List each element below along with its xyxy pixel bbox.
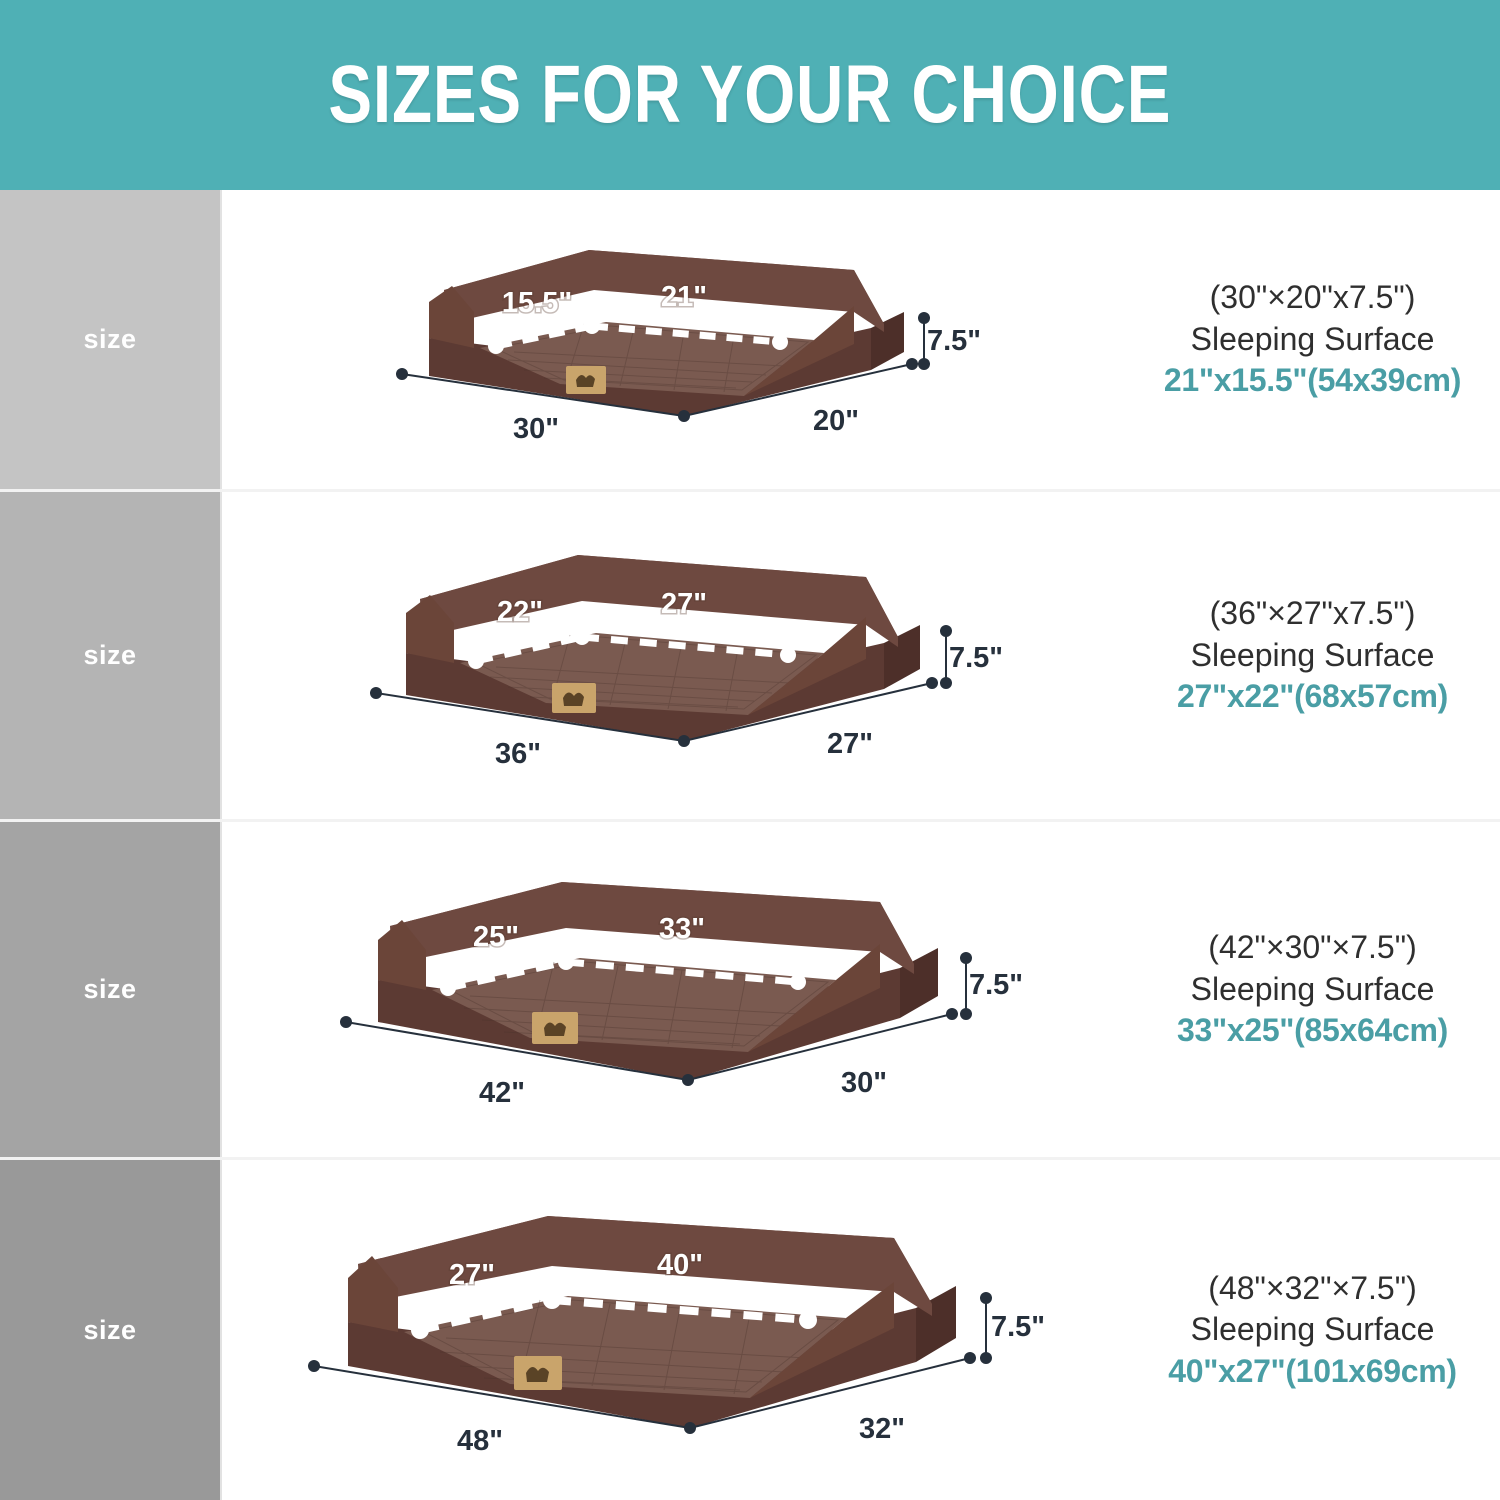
overall-dimensions: (30"×20"x7.5") xyxy=(1210,277,1416,319)
inner-side-label: 15.5" xyxy=(501,287,571,319)
outer-length-label: 30" xyxy=(512,413,558,445)
size-label: size xyxy=(83,324,136,355)
size-label: size xyxy=(83,640,136,671)
size-text-cell-3: (42"×30"×7.5") Sleeping Surface 33"x25"(… xyxy=(1125,822,1500,1157)
bed-illustration-cell-4: 27" 40" 48" 32" xyxy=(222,1160,1125,1500)
inner-front-label: 33" xyxy=(658,913,704,945)
sleeping-surface-value: 33"x25"(85x64cm) xyxy=(1177,1010,1448,1052)
inner-side-label: 25" xyxy=(472,921,518,953)
overall-dimensions: (36"×27"x7.5") xyxy=(1210,593,1416,635)
outer-depth-label: 30" xyxy=(840,1067,886,1099)
table-row: size xyxy=(0,1160,1500,1500)
size-text-cell-4: (48"×32"×7.5") Sleeping Surface 40"x27"(… xyxy=(1125,1160,1500,1500)
outer-height-label: 7.5" xyxy=(926,325,980,357)
page-title: SIZES FOR YOUR CHOICE xyxy=(328,48,1171,142)
size-chart-table: size xyxy=(0,190,1500,1500)
inner-side-label: 22" xyxy=(496,596,542,628)
outer-depth-label: 20" xyxy=(812,405,858,437)
outer-length-label: 42" xyxy=(478,1077,524,1109)
dog-bed-diagram-1: 15.5" 21" 30" xyxy=(384,220,964,460)
overall-dimensions: (48"×32"×7.5") xyxy=(1208,1268,1416,1310)
outer-height-label: 7.5" xyxy=(990,1311,1044,1343)
sleeping-surface-caption: Sleeping Surface xyxy=(1191,319,1435,361)
outer-length-label: 48" xyxy=(456,1425,502,1457)
inner-front-label: 21" xyxy=(660,281,706,313)
sleeping-surface-value: 40"x27"(101x69cm) xyxy=(1168,1351,1457,1393)
inner-front-label: 27" xyxy=(660,588,706,620)
table-row: size xyxy=(0,190,1500,492)
bed-illustration-cell-1: 15.5" 21" 30" xyxy=(222,190,1125,489)
inner-side-label: 27" xyxy=(448,1259,494,1291)
sleeping-surface-caption: Sleeping Surface xyxy=(1191,1309,1435,1351)
outer-height-label: 7.5" xyxy=(968,969,1022,1001)
size-swatch-cell-1: size xyxy=(0,190,222,489)
size-swatch-cell-2: size xyxy=(0,492,222,819)
size-text-cell-1: (30"×20"x7.5") Sleeping Surface 21"x15.5… xyxy=(1125,190,1500,489)
bed-illustration-cell-2: 22" 27" 36" 27" xyxy=(222,492,1125,819)
outer-depth-label: 32" xyxy=(858,1413,904,1445)
page-header-banner: SIZES FOR YOUR CHOICE xyxy=(0,0,1500,190)
dog-bed-diagram-4: 27" 40" 48" 32" xyxy=(294,1190,1054,1470)
table-row: size xyxy=(0,492,1500,822)
size-text-cell-2: (36"×27"x7.5") Sleeping Surface 27"x22"(… xyxy=(1125,492,1500,819)
size-label: size xyxy=(83,1315,136,1346)
inner-front-label: 40" xyxy=(656,1249,702,1281)
dog-bed-diagram-2: 22" 27" 36" 27" xyxy=(354,525,994,787)
table-row: size xyxy=(0,822,1500,1160)
sleeping-surface-caption: Sleeping Surface xyxy=(1191,635,1435,677)
bed-illustration-cell-3: 25" 33" 42" 30" xyxy=(222,822,1125,1157)
outer-depth-label: 27" xyxy=(826,728,872,760)
outer-height-label: 7.5" xyxy=(948,642,1002,674)
size-swatch-cell-3: size xyxy=(0,822,222,1157)
size-label: size xyxy=(83,974,136,1005)
sleeping-surface-value: 27"x22"(68x57cm) xyxy=(1177,676,1448,718)
outer-length-label: 36" xyxy=(494,738,540,770)
dog-bed-diagram-3: 25" 33" 42" 30" xyxy=(324,856,1024,1124)
overall-dimensions: (42"×30"×7.5") xyxy=(1208,927,1416,969)
sleeping-surface-value: 21"x15.5"(54x39cm) xyxy=(1164,360,1461,402)
size-swatch-cell-4: size xyxy=(0,1160,222,1500)
sleeping-surface-caption: Sleeping Surface xyxy=(1191,969,1435,1011)
